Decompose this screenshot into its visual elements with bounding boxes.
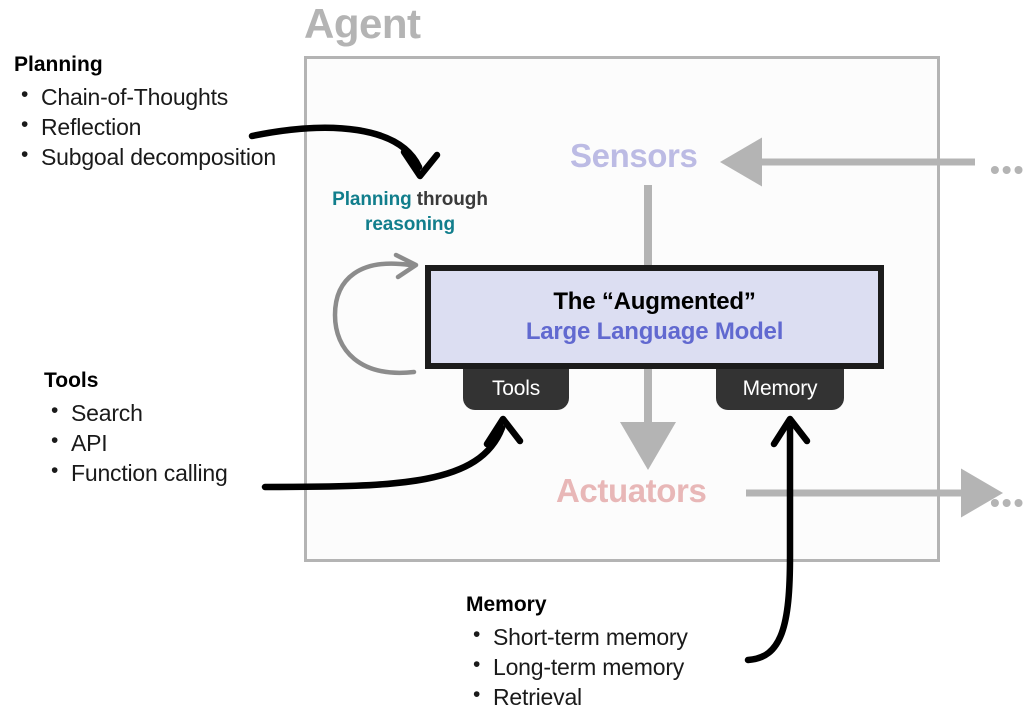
list-item: Short-term memory [466, 622, 796, 652]
memory-module-chip[interactable]: Memory [716, 368, 844, 410]
list-item: Subgoal decomposition [14, 142, 299, 172]
planning-bullet-list: Chain-of-Thoughts Reflection Subgoal dec… [14, 82, 299, 172]
agent-title: Agent [304, 2, 421, 46]
actuators-label: Actuators [556, 472, 706, 510]
planning-annotation: Planning Chain-of-Thoughts Reflection Su… [14, 52, 299, 172]
tools-module-chip[interactable]: Tools [463, 368, 569, 410]
list-item: Search [44, 398, 304, 428]
reasoning-loop-caption: Planning through reasoning [310, 187, 510, 237]
memory-annotation: Memory Short-term memory Long-term memor… [466, 592, 796, 712]
memory-chip-label: Memory [743, 377, 818, 401]
list-item: Function calling [44, 458, 304, 488]
llm-title-line1: The “Augmented” [553, 287, 755, 317]
tools-annotation: Tools Search API Function calling [44, 368, 304, 488]
list-item: Chain-of-Thoughts [14, 82, 299, 112]
memory-heading: Memory [466, 592, 796, 619]
caption-word-through: through [412, 189, 488, 210]
tools-bullet-list: Search API Function calling [44, 398, 304, 488]
caption-word-reasoning: reasoning [365, 214, 455, 235]
memory-bullet-list: Short-term memory Long-term memory Retri… [466, 622, 796, 712]
actuators-output-ellipsis: ••• [990, 489, 1025, 517]
tools-heading: Tools [44, 368, 304, 395]
sensors-label: Sensors [570, 137, 697, 175]
list-item: API [44, 428, 304, 458]
list-item: Reflection [14, 112, 299, 142]
sensors-input-ellipsis: ••• [990, 156, 1025, 184]
tools-chip-label: Tools [492, 377, 540, 401]
augmented-llm-box: The “Augmented” Large Language Model [425, 265, 884, 369]
caption-word-planning: Planning [332, 189, 411, 210]
diagram-canvas: Agent [0, 0, 1032, 720]
list-item: Retrieval [466, 682, 796, 712]
list-item: Long-term memory [466, 652, 796, 682]
llm-title-line2: Large Language Model [526, 317, 783, 347]
planning-heading: Planning [14, 52, 299, 79]
